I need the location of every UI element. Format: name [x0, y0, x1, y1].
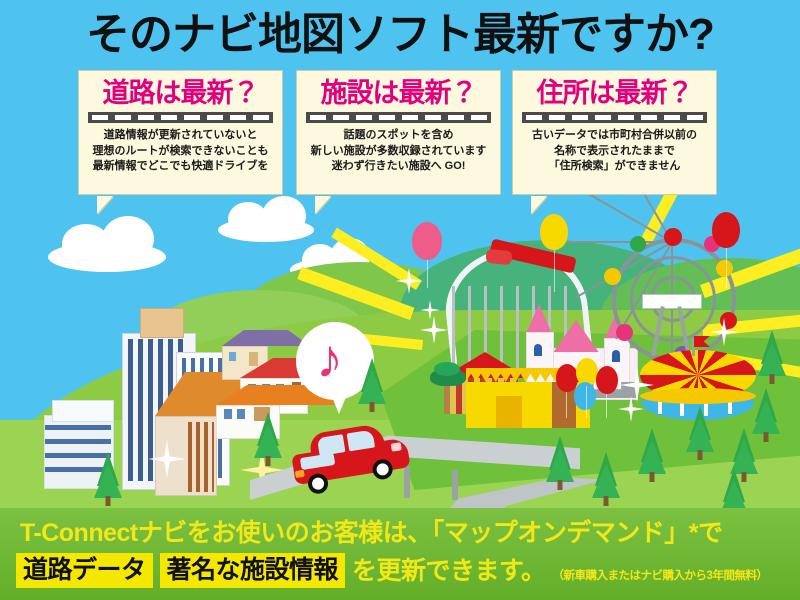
bubble-tail — [97, 196, 113, 214]
road-divider-icon — [522, 112, 707, 123]
callout-line: 名称で表示されたままで — [520, 144, 709, 160]
callout-line: 理想のルートが検索できないことも — [86, 144, 275, 160]
callout-line: 話題のスポットを含め — [304, 128, 493, 144]
tower-rooftop-box — [140, 308, 184, 338]
civic-hall-columns — [188, 422, 214, 492]
chip-road-data: 道路データ — [16, 553, 153, 588]
page-title: そのナビ地図ソフト最新ですか? — [0, 6, 800, 64]
banner-second-line: 道路データ 著名な施設情報 を更新できます。 （新車購入またはナビ購入から3年間… — [16, 553, 767, 588]
bottom-promo-banner: T-Connectナビをお使いのお客様は、「マップオンデマンド」*で 道路データ… — [0, 508, 800, 600]
callout-line: 新しい施設が多数収録されています — [304, 144, 493, 160]
callout-line: 古いデータでは市町村合併以前の — [520, 128, 709, 144]
cloud-icon — [48, 242, 166, 272]
music-note-bubble-tail — [330, 392, 348, 414]
callout-line: 「住所検索」ができません — [520, 159, 709, 175]
banner-tail-text: を更新できます。 — [352, 555, 546, 587]
callout-line: 迷わず行きたい施設へ GO! — [304, 159, 493, 175]
road-divider-icon — [306, 112, 491, 123]
callout-title: 道路は最新？ — [86, 77, 275, 109]
callout-title: 施設は最新？ — [304, 77, 493, 109]
chip-facility-info: 著名な施設情報 — [160, 553, 346, 588]
callout-box-facilities: 施設は最新？ 話題のスポットを含め 新しい施設が多数収録されています 迷わず行き… — [296, 70, 501, 195]
callout-box-addresses: 住所は最新？ 古いデータでは市町村合併以前の 名称で表示されたままで 「住所検索… — [512, 70, 717, 195]
stepped-building-top — [52, 400, 114, 422]
palm-tree — [430, 362, 464, 414]
advertisement-banner: ♪ — [0, 0, 800, 600]
road-pillar — [452, 470, 458, 500]
banner-fineprint: （新車購入またはナビ購入から3年間無料） — [553, 567, 768, 588]
music-note-icon: ♪ — [316, 332, 360, 388]
callout-line: 最新情報でどこでも快適ドライブを — [86, 159, 275, 175]
cloud-icon — [218, 218, 314, 242]
bubble-tail — [531, 196, 547, 214]
road-divider-icon — [88, 112, 273, 123]
banner-headline: T-Connectナビをお使いのお客様は、「マップオンデマンド」*で — [20, 516, 722, 550]
bubble-tail — [315, 196, 331, 214]
callout-line: 道路情報が更新されていないと — [86, 128, 275, 144]
callout-title: 住所は最新？ — [520, 77, 709, 109]
roller-coaster-train-front — [485, 249, 512, 265]
callout-box-roads: 道路は最新？ 道路情報が更新されていないと 理想のルートが検索できないことも 最… — [78, 70, 283, 195]
